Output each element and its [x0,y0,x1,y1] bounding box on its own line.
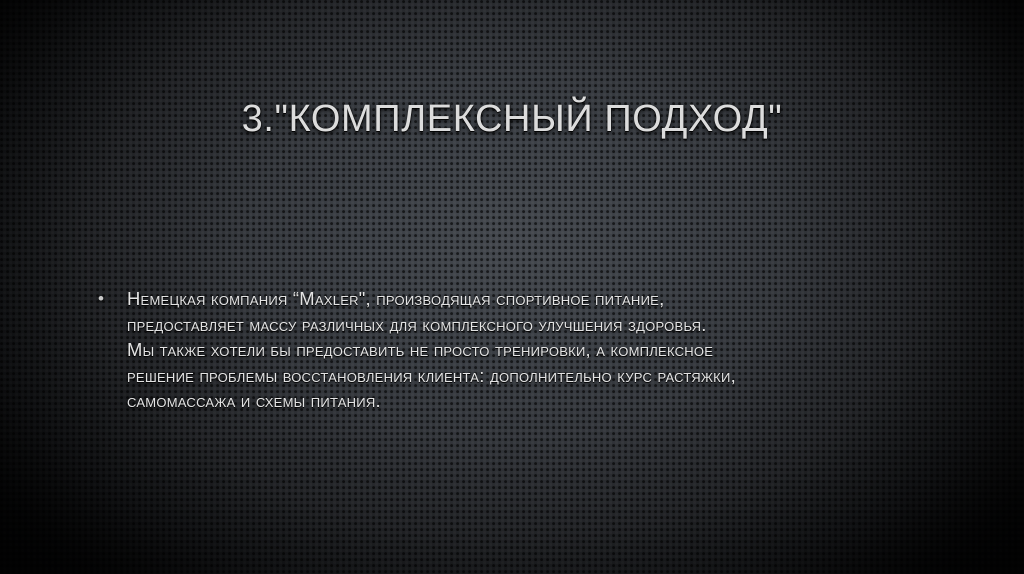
bullet-text-line: решение проблемы восстановления клиента:… [127,363,920,389]
bullet-text-line: самомассажа и схемы питания. [127,388,920,414]
slide-body: • Немецкая компания “Maxler", производящ… [92,286,920,414]
bullet-item-text: Немецкая компания “Maxler", производящая… [127,286,920,414]
bullet-text-line: Мы также хотели бы предоставить не прост… [127,337,920,363]
bullet-list-item: • Немецкая компания “Maxler", производящ… [92,286,920,414]
bullet-point-icon: • [92,286,127,312]
bullet-text-line: предоставляет массу различных для компле… [127,312,920,338]
bullet-text-line: Немецкая компания “Maxler", производящая… [127,286,920,312]
slide-title: 3."Комплексный подход" [64,96,960,142]
presentation-slide: 3."Комплексный подход" • Немецкая компан… [0,0,1024,574]
